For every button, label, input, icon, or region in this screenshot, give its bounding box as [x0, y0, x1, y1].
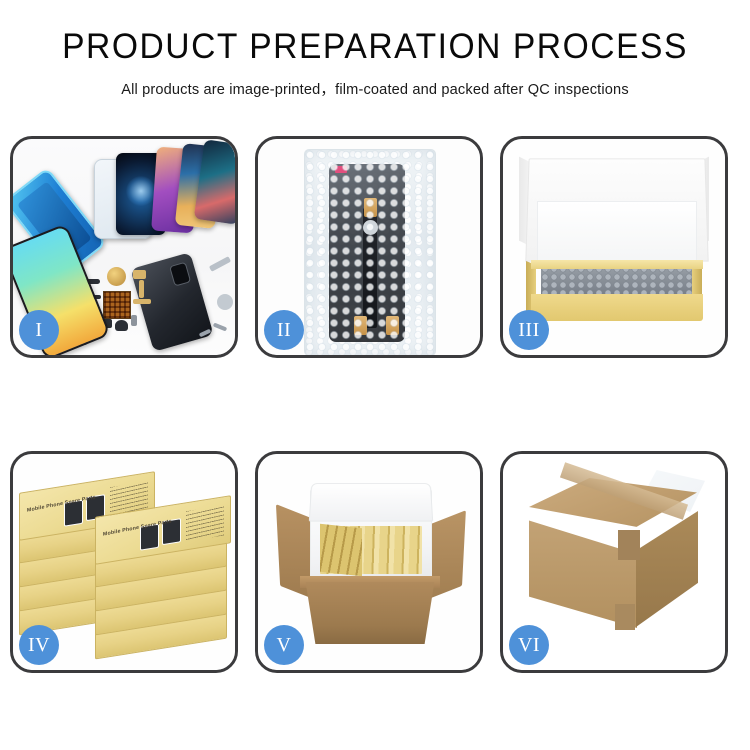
- carton-seam-lower-icon: [615, 604, 635, 630]
- carton-seam-upper-icon: [618, 530, 640, 560]
- flex-chip-icon: [363, 220, 378, 235]
- flex-pad-top-icon: [364, 198, 377, 217]
- part-coil-icon: [107, 267, 126, 286]
- step-badge-2: II: [264, 310, 304, 350]
- foam-lid-icon: [309, 483, 433, 521]
- step-panel-6[interactable]: VI: [500, 451, 728, 673]
- page-subtitle: All products are image-printed，film-coat…: [0, 78, 750, 99]
- step-panel-1[interactable]: I: [10, 136, 238, 358]
- flex-pad-left-icon: [354, 316, 367, 335]
- foam-sheet-icon: [537, 201, 697, 265]
- step-badge-5: V: [264, 625, 304, 665]
- step-badge-1: I: [19, 310, 59, 350]
- product-preparation-infographic: PRODUCT PREPARATION PROCESS All products…: [0, 0, 750, 750]
- step-badge-4: IV: [19, 625, 59, 665]
- flex-pad-right-icon: [386, 316, 399, 335]
- packed-boxes-side-icon: [320, 524, 362, 576]
- bubble-contents-icon: [541, 265, 693, 297]
- part-ribbon-icon: [133, 299, 151, 304]
- tray-front-icon: [531, 294, 703, 321]
- part-camera-icon: [115, 320, 128, 331]
- steps-grid: I II: [10, 136, 740, 673]
- step-badge-3: III: [509, 310, 549, 350]
- part-pin-icon: [131, 315, 137, 326]
- bubble-wrap-bag-icon: [304, 149, 436, 355]
- step-panel-4[interactable]: Mobile Phone Spare Parts Mobile Phone Sp…: [10, 451, 238, 673]
- part-logicboard-icon: [103, 291, 131, 319]
- pink-label-tab-icon: [335, 166, 347, 173]
- page-title: PRODUCT PREPARATION PROCESS: [15, 28, 735, 67]
- part-flex-a-icon: [133, 270, 146, 279]
- carton-front-icon: [300, 582, 440, 644]
- part-flex-b-icon: [139, 280, 144, 298]
- step-panel-3[interactable]: III: [500, 136, 728, 358]
- tray-lip-icon: [531, 260, 703, 269]
- header: PRODUCT PREPARATION PROCESS All products…: [0, 28, 750, 99]
- step-panel-2[interactable]: II: [255, 136, 483, 358]
- step-panel-5[interactable]: V: [255, 451, 483, 673]
- part-lens-icon: [217, 294, 233, 310]
- step-badge-6: VI: [509, 625, 549, 665]
